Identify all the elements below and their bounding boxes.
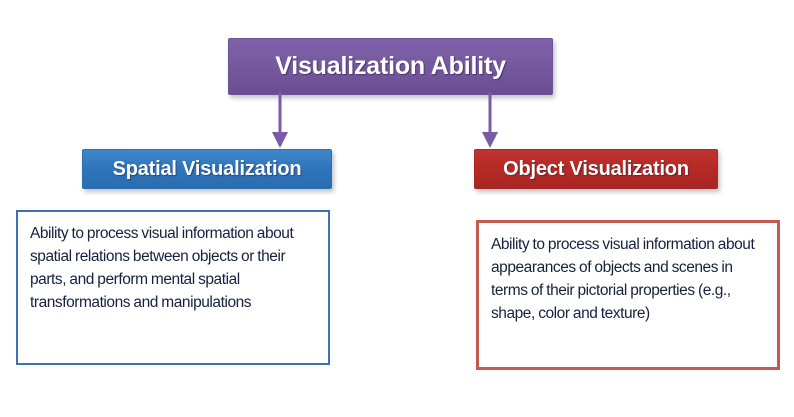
root-node-visualization-ability[interactable]: Visualization Ability bbox=[228, 38, 553, 95]
description-text-object: Ability to process visual information ab… bbox=[491, 233, 765, 325]
description-box-spatial: Ability to process visual information ab… bbox=[16, 210, 330, 365]
description-box-object: Ability to process visual information ab… bbox=[476, 220, 780, 370]
branch-header-label-object: Object Visualization bbox=[503, 158, 689, 181]
root-node-label: Visualization Ability bbox=[275, 52, 506, 81]
branch-header-spatial-visualization[interactable]: Spatial Visualization bbox=[82, 149, 332, 189]
diagram-canvas: Visualization Ability Spatial Visualizat… bbox=[0, 0, 794, 417]
description-text-spatial: Ability to process visual information ab… bbox=[30, 222, 316, 314]
branch-header-label-spatial: Spatial Visualization bbox=[113, 158, 302, 181]
arrow-down-icon-root-to-object bbox=[478, 92, 502, 150]
arrow-down-icon-root-to-spatial bbox=[268, 92, 292, 150]
branch-header-object-visualization[interactable]: Object Visualization bbox=[474, 149, 718, 189]
